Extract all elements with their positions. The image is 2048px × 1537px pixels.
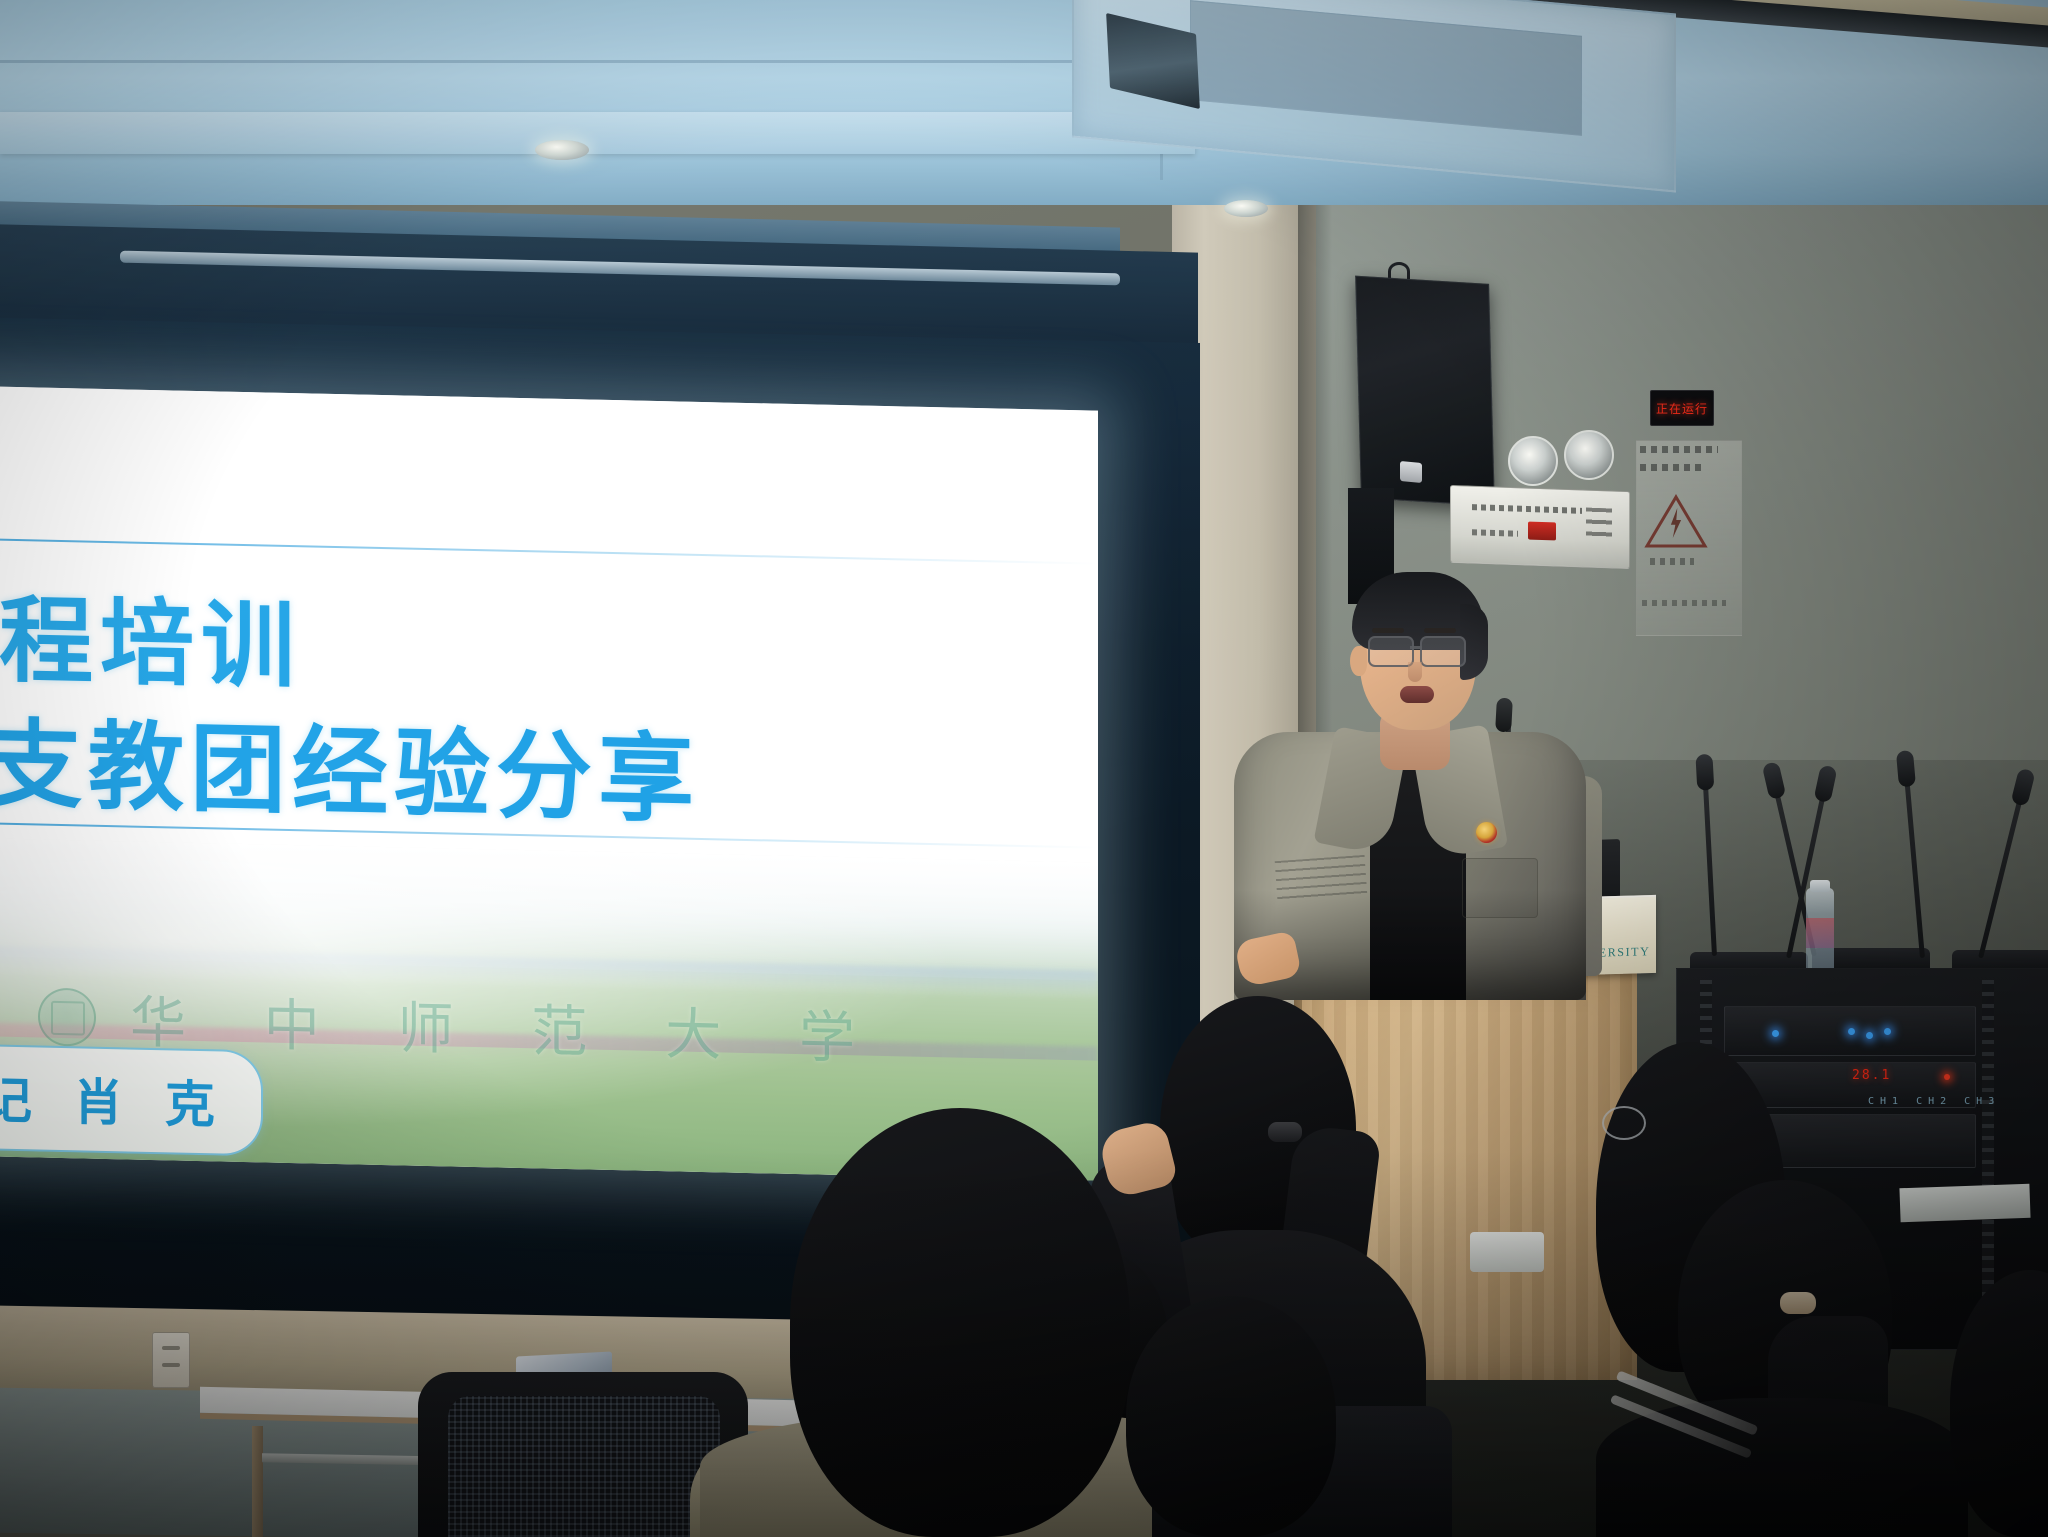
office-chair-mesh bbox=[448, 1396, 720, 1537]
presenter-nose bbox=[1408, 662, 1422, 682]
rack-indicator-led bbox=[1772, 1030, 1779, 1037]
led-status-display: 正在运行 bbox=[1650, 390, 1714, 426]
cabinet-sign-footer bbox=[1642, 600, 1726, 606]
loudspeaker-badge bbox=[1400, 461, 1422, 483]
cabinet-sign-footer bbox=[1650, 558, 1694, 565]
audience-front-center bbox=[790, 1108, 1130, 1537]
emergency-light-indicator bbox=[1528, 522, 1556, 541]
party-emblem-pin-icon bbox=[1476, 822, 1497, 843]
projected-slide: 工程培训 生支教团经验分享 华 中 师 范 大 学 团委书记 肖 克 bbox=[0, 385, 1098, 1180]
slide-speaker-label: 团委书记 肖 克 bbox=[0, 1067, 227, 1134]
rack-numeric-readout: 28.1 bbox=[1852, 1068, 1891, 1083]
table-leg bbox=[252, 1426, 263, 1537]
wall-outlet-icon[interactable] bbox=[152, 1332, 190, 1388]
water-bottle-cap bbox=[1810, 880, 1830, 892]
ceiling-seam bbox=[0, 60, 1160, 63]
ccnu-seal-icon bbox=[38, 987, 96, 1046]
downlight-icon bbox=[1224, 200, 1268, 217]
rack-indicator-led bbox=[1884, 1028, 1891, 1035]
hair-tie bbox=[1780, 1292, 1816, 1314]
hair-tie bbox=[1268, 1122, 1302, 1142]
photo-scene: 工程培训 生支教团经验分享 华 中 师 范 大 学 团委书记 肖 克 bbox=[0, 0, 2048, 1537]
rack-indicator-led bbox=[1848, 1028, 1855, 1035]
emergency-lamp-head bbox=[1564, 430, 1614, 480]
ceiling bbox=[0, 0, 2048, 205]
presenter-mouth bbox=[1400, 686, 1434, 703]
wall-loudspeaker-icon bbox=[1355, 276, 1495, 507]
rack-paper-sheet bbox=[1899, 1184, 2030, 1223]
rack-channel-labels[interactable]: CH1 CH2 CH3 bbox=[1868, 1096, 2000, 1107]
podium-object bbox=[1470, 1232, 1544, 1272]
presenter-eyebrow-right bbox=[1424, 628, 1456, 633]
presenter bbox=[1224, 560, 1594, 1000]
glasses-icon bbox=[1420, 636, 1466, 667]
glasses-icon bbox=[1602, 1106, 1646, 1140]
rack-indicator-led bbox=[1866, 1032, 1873, 1039]
presenter-ear bbox=[1350, 646, 1367, 676]
emergency-lamp-head bbox=[1508, 436, 1558, 486]
slide-title-line1: 工程培训 bbox=[0, 562, 302, 707]
rack-power-led bbox=[1944, 1074, 1950, 1080]
emergency-light-markings bbox=[1586, 508, 1612, 539]
ceiling-bulkhead bbox=[0, 112, 1195, 154]
presenter-eyebrow-left bbox=[1372, 628, 1404, 633]
audience-mid-front bbox=[1126, 1296, 1336, 1537]
rack-rail bbox=[1982, 980, 1994, 1336]
cabinet-sign-title bbox=[1640, 446, 1718, 453]
cabinet-sign-subtitle bbox=[1640, 464, 1702, 471]
water-bottle-label bbox=[1806, 918, 1834, 948]
glasses-bridge bbox=[1410, 646, 1422, 649]
led-status-text: 正在运行 bbox=[1656, 400, 1708, 417]
slide-speaker-namebox: 团委书记 肖 克 bbox=[0, 1039, 263, 1156]
downlight-icon bbox=[535, 140, 589, 160]
slide-title-line2: 生支教团经验分享 bbox=[0, 684, 700, 841]
